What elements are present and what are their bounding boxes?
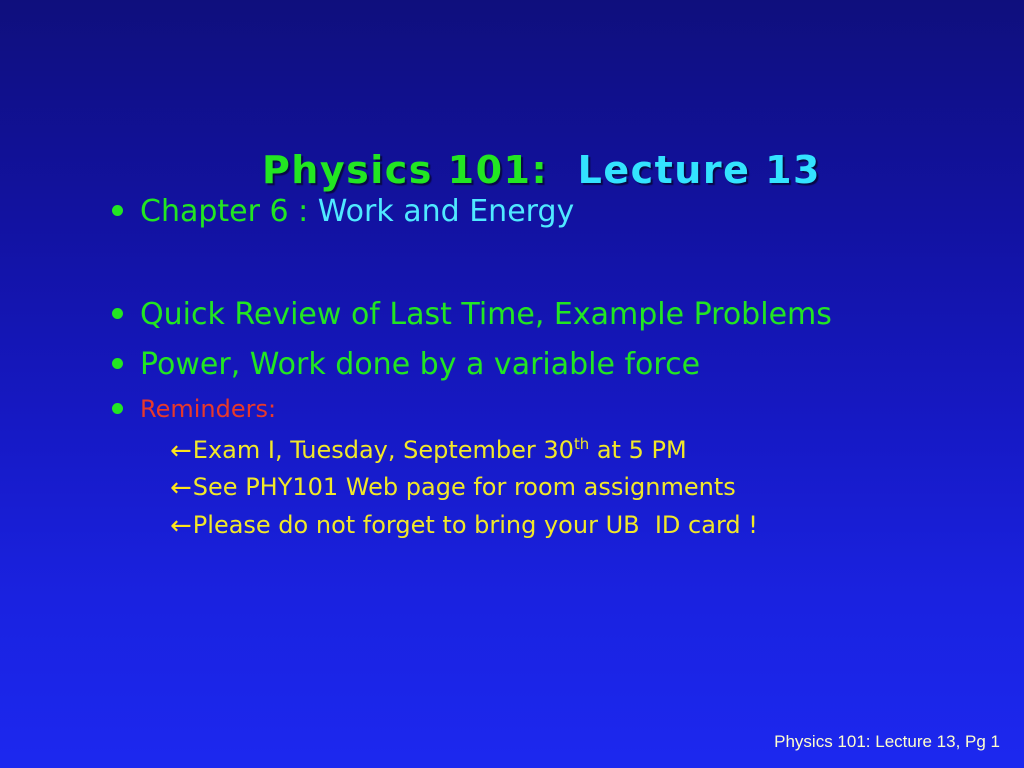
slide-title-part-two: Lecture 13 — [578, 148, 821, 192]
bullet-item-chapter: Chapter 6 : Work and Energy — [112, 196, 992, 228]
bullet-item-quick-review-label: Quick Review of Last Time, Example Probl… — [140, 299, 832, 331]
filled-circle-icon — [112, 358, 123, 369]
left-arrow-icon: ← — [170, 513, 192, 539]
sub-bullet-exam-text: Exam I, Tuesday, September 30 — [193, 436, 574, 464]
presentation-slide: Physics 101: Lecture 13 Chapter 6 : Work… — [0, 0, 1024, 768]
bullet-chapter-topic: Work and Energy — [318, 194, 575, 229]
sub-bullet-item-exam: ← Exam I, Tuesday, September 30th at 5 P… — [170, 437, 992, 463]
sub-bullet-exam-ordinal-suffix: th — [574, 435, 589, 453]
bullet-item-reminders-label: Reminders: — [140, 397, 276, 423]
sub-bullet-item-webpage: ← See PHY101 Web page for room assignmen… — [170, 474, 992, 500]
sub-bullet-item-webpage-label: See PHY101 Web page for room assignments — [193, 474, 736, 500]
slide-title-part-one: Physics 101: — [262, 148, 548, 192]
bullet-item-quick-review: Quick Review of Last Time, Example Probl… — [112, 299, 992, 331]
sub-bullet-item-idcard: ← Please do not forget to bring your UB … — [170, 512, 992, 538]
sub-bullet-item-idcard-label: Please do not forget to bring your UB ID… — [193, 512, 758, 538]
sub-bullet-exam-time: at 5 PM — [589, 436, 686, 464]
filled-circle-icon — [112, 403, 123, 414]
filled-circle-icon — [112, 205, 123, 216]
filled-circle-icon — [112, 308, 123, 319]
bullet-item-reminders: Reminders: — [112, 397, 992, 423]
bullet-chapter-prefix: Chapter 6 : — [140, 194, 318, 229]
slide-footer: Physics 101: Lecture 13, Pg 1 — [774, 732, 1000, 752]
slide-title-spacer — [548, 148, 577, 192]
bullet-item-chapter-label: Chapter 6 : Work and Energy — [140, 196, 574, 228]
sub-bullet-list: ← Exam I, Tuesday, September 30th at 5 P… — [170, 437, 992, 538]
bullet-item-power-label: Power, Work done by a variable force — [140, 349, 700, 381]
sub-bullet-item-exam-label: Exam I, Tuesday, September 30th at 5 PM — [193, 437, 687, 463]
bullet-item-power: Power, Work done by a variable force — [112, 349, 992, 381]
bullet-list: Chapter 6 : Work and Energy Quick Review… — [112, 196, 992, 549]
left-arrow-icon: ← — [170, 475, 192, 501]
left-arrow-icon: ← — [170, 438, 192, 464]
